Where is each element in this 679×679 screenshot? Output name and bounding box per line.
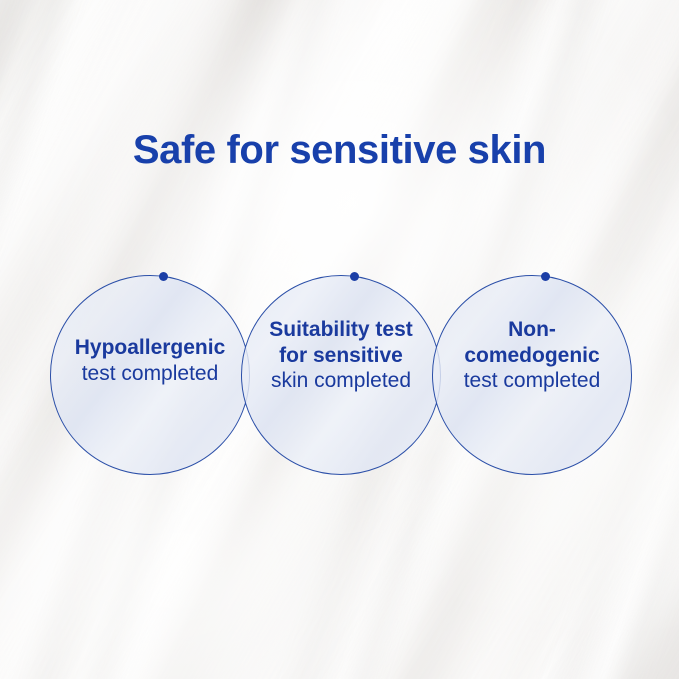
badge-marker-dot-icon xyxy=(350,272,359,281)
badge-marker-dot-icon xyxy=(159,272,168,281)
badge-line-3: test completed xyxy=(418,368,646,394)
badge-marker-dot-icon xyxy=(541,272,550,281)
claim-badge-hypoallergenic: Hypoallergenic test completed xyxy=(50,275,250,475)
claim-badge-non-comedogenic: Non- comedogenic test completed xyxy=(432,275,632,475)
badge-line-2: comedogenic xyxy=(418,343,646,369)
badge-line-1: Non- xyxy=(418,317,646,343)
product-claims-graphic: Safe for sensitive skin Hypoallergenic t… xyxy=(0,0,679,679)
claim-badge-group: Hypoallergenic test completed Suitabilit… xyxy=(0,0,679,679)
badge-text-block: Non- comedogenic test completed xyxy=(418,317,646,394)
claim-badge-suitability: Suitability test for sensitive skin comp… xyxy=(241,275,441,475)
